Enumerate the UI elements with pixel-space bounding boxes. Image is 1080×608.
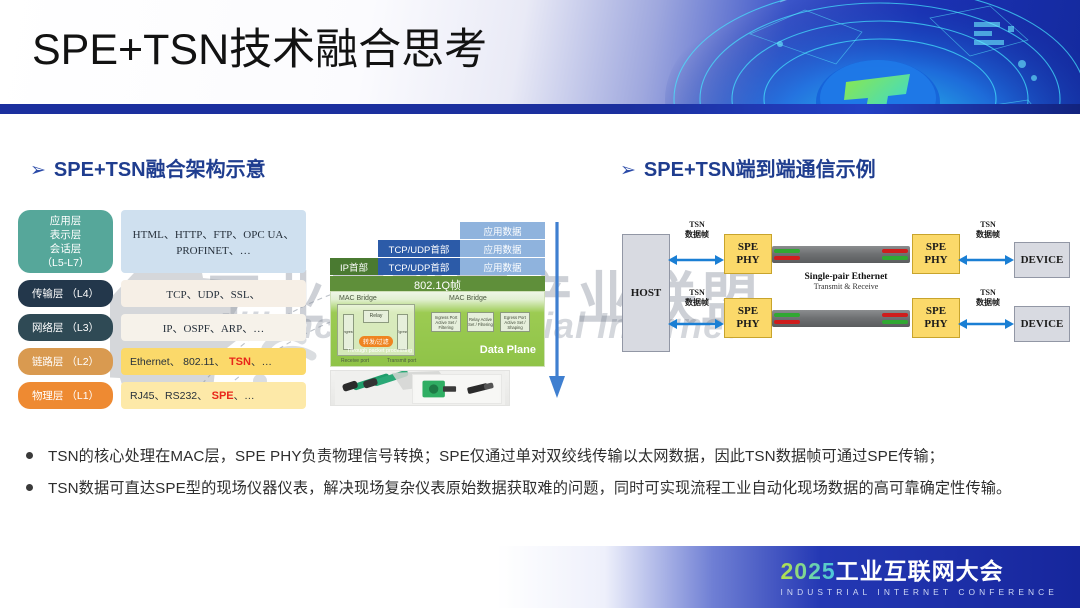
protocol-text: Ethernet、 802.11、 xyxy=(130,354,225,369)
conference-name-cn: 工业互联网大会 xyxy=(836,558,1004,584)
protocol-tail: 、… xyxy=(234,388,255,403)
mini-egress-box: Egress Port Active Set / Shaping xyxy=(500,312,530,332)
encap-row: 应用数据 xyxy=(460,222,545,239)
arrow-host-to-phy-bottom xyxy=(668,318,724,330)
spe-phy-node-bottom-left: SPE PHY xyxy=(724,298,772,338)
tsn-frame-label-bottom-right: TSN 数据帧 xyxy=(962,288,1014,308)
protocol-tail: 、… xyxy=(251,354,272,369)
forward-filter-pill: 转发/过滤 xyxy=(359,336,393,347)
tsn-frame-label-top-left: TSN 数据帧 xyxy=(670,220,724,240)
topology-diagram: HOST TSN 数据帧 TSN 数据帧 SPE PHY SPE PHY xyxy=(600,212,1070,392)
header-tech-graphic xyxy=(630,0,1080,104)
ingress-port-box: Ingress xyxy=(343,314,354,350)
cable-caption-line1: Single-pair Ethernet xyxy=(792,272,900,282)
relay-box: Relay xyxy=(363,310,389,323)
spe-phy-line2: PHY xyxy=(924,318,947,331)
conference-name-en: INDUSTRIAL INTERNET CONFERENCE xyxy=(781,587,1059,597)
bullet-text: TSN的核心处理在MAC层，SPE PHY负责物理信号转换；SPE仅通过单对双绞… xyxy=(48,448,944,465)
protocol-box-network: IP、OSPF、ARP、… xyxy=(121,314,306,341)
section-heading-right: ➢SPE+TSN端到端通信示例 xyxy=(620,153,876,182)
egress-port-box: Egress xyxy=(397,314,408,350)
bullet-dot-icon xyxy=(26,484,33,491)
layer-label-line: （L5-L7） xyxy=(42,256,90,270)
tsn-frame-label-bottom-left: TSN 数据帧 xyxy=(670,288,724,308)
layer-label-line: 会话层 xyxy=(50,242,82,256)
protocol-box-link: Ethernet、 802.11、 TSN 、… xyxy=(121,348,306,375)
protocol-box-physical: RJ45、RS232、 SPE 、… xyxy=(121,382,306,409)
chevron-right-icon: ➢ xyxy=(30,160,46,181)
protocol-highlight-spe: SPE xyxy=(212,390,234,402)
layer-label-line: 传输层 （L4） xyxy=(32,287,99,301)
protocol-box-application: HTML、HTTP、FTP、OPC UA、PROFINET、… xyxy=(121,210,306,273)
spe-phy-node-top-left: SPE PHY xyxy=(724,234,772,274)
bullet-list: TSN的核心处理在MAC层，SPE PHY负责物理信号转换；SPE仅通过单对双绞… xyxy=(22,443,1062,507)
arrow-phy-to-device-top xyxy=(958,254,1014,266)
protocol-box-transport: TCP、UDP、SSL、 xyxy=(121,280,306,307)
bullet-item: TSN数据可直达SPE型的现场仪器仪表，解决现场复杂仪表原始数据获取难的问题，同… xyxy=(22,475,1062,502)
host-node: HOST xyxy=(622,234,670,352)
header-divider xyxy=(0,104,1080,114)
layer-box-network: 网络层 （L3） xyxy=(18,314,113,341)
mac-bridge-right-label: MAC Bridge xyxy=(449,295,487,302)
arrow-phy-to-device-bottom xyxy=(958,318,1014,330)
conference-year: 2025 xyxy=(781,558,836,584)
spe-phy-line1: SPE xyxy=(738,305,758,318)
encap-cell-tcp-udp-header: TCP/UDP首部 xyxy=(378,240,460,257)
spe-phy-node-bottom-right: SPE PHY xyxy=(912,298,960,338)
tsn-label-line1: TSN xyxy=(980,288,996,297)
connector-photo-right xyxy=(412,374,502,404)
through-packet-label: Through packet processing xyxy=(347,348,412,354)
spe-phy-line1: SPE xyxy=(926,305,946,318)
slide-footer: 2025工业互联网大会 INDUSTRIAL INTERNET CONFEREN… xyxy=(0,546,1080,608)
tsn-label-line2: 数据帧 xyxy=(685,230,709,239)
mac-bridge-left-label: MAC Bridge xyxy=(339,295,377,302)
data-plane-diagram: MAC Bridge MAC Bridge Ingress Relay Egre… xyxy=(330,291,545,367)
slide: SPE+TSN技术融合思考 工业互联网产业联盟 Alliance of Indu… xyxy=(0,0,1080,608)
device-node-bottom: DEVICE xyxy=(1014,306,1070,342)
layer-box-application: 应用层 表示层 会话层 （L5-L7） xyxy=(18,210,113,273)
protocol-text: IP、OSPF、ARP、… xyxy=(163,320,264,336)
arrow-host-to-phy-top xyxy=(668,254,724,266)
encap-row: TCP/UDP首部 应用数据 xyxy=(378,240,545,257)
mini-relay-box: Relay Active Set / Filtering xyxy=(467,312,494,332)
bullet-item: TSN的核心处理在MAC层，SPE PHY负责物理信号转换；SPE仅通过单对双绞… xyxy=(22,443,1062,470)
layer-label-line: 物理层 （L1） xyxy=(32,389,99,403)
mini-ingress-box: Ingress Port Active Set / Filtering xyxy=(431,312,461,332)
encap-cell-app-data: 应用数据 xyxy=(460,258,545,275)
data-plane-label: Data Plane xyxy=(480,344,536,356)
flow-down-arrow xyxy=(546,222,568,398)
section-heading-left-label: SPE+TSN融合架构示意 xyxy=(54,159,266,181)
encap-cell-tcp-udp-header: TCP/UDP首部 xyxy=(378,258,460,275)
tsn-label-line1: TSN xyxy=(689,220,705,229)
encap-cell-app-data: 应用数据 xyxy=(460,222,545,239)
spe-cable-top xyxy=(772,246,910,263)
protocol-text: HTML、HTTP、FTP、OPC UA、PROFINET、… xyxy=(121,226,306,258)
spe-cable-bottom xyxy=(772,310,910,327)
transmit-port-label: Transmit port xyxy=(387,358,416,364)
tsn-label-line2: 数据帧 xyxy=(685,298,709,307)
spe-phy-line2: PHY xyxy=(736,318,759,331)
protocol-text: TCP、UDP、SSL、 xyxy=(166,286,260,302)
cable-caption-line2: Transmit & Receive xyxy=(792,282,900,291)
encap-cell-ip-header: IP首部 xyxy=(330,258,378,275)
section-heading-left: ➢SPE+TSN融合架构示意 xyxy=(30,153,266,182)
tsn-label-line2: 数据帧 xyxy=(976,298,1000,307)
bullet-text: TSN数据可直达SPE型的现场仪器仪表，解决现场复杂仪表原始数据获取难的问题，同… xyxy=(48,480,1011,497)
layer-box-physical: 物理层 （L1） xyxy=(18,382,113,409)
protocol-highlight-tsn: TSN xyxy=(229,356,251,368)
page-title: SPE+TSN技术融合思考 xyxy=(32,20,487,80)
slide-header: SPE+TSN技术融合思考 xyxy=(0,0,1080,104)
header-underline xyxy=(0,114,1080,118)
layer-label-line: 表示层 xyxy=(50,228,82,242)
protocol-text: RJ45、RS232、 xyxy=(130,388,208,403)
chevron-right-icon: ➢ xyxy=(620,160,636,181)
encapsulation-stack: 应用数据 TCP/UDP首部 应用数据 IP首部 TCP/UDP首部 应用数据 … xyxy=(330,222,545,292)
tsn-frame-label-top-right: TSN 数据帧 xyxy=(962,220,1014,240)
layer-box-link: 链路层 （L2） xyxy=(18,348,113,375)
layer-box-transport: 传输层 （L4） xyxy=(18,280,113,307)
tsn-label-line2: 数据帧 xyxy=(976,230,1000,239)
encap-cell-app-data: 应用数据 xyxy=(460,240,545,257)
layer-label-line: 网络层 （L3） xyxy=(32,321,99,335)
spe-phy-line2: PHY xyxy=(736,254,759,267)
spe-phy-line2: PHY xyxy=(924,254,947,267)
layer-label-line: 应用层 xyxy=(50,214,82,228)
bullet-dot-icon xyxy=(26,452,33,459)
spe-phy-line1: SPE xyxy=(738,241,758,254)
spe-phy-line1: SPE xyxy=(926,241,946,254)
tsn-label-line1: TSN xyxy=(689,288,705,297)
single-pair-ethernet-caption: Single-pair Ethernet Transmit & Receive xyxy=(792,272,900,291)
conference-logo: 2025工业互联网大会 INDUSTRIAL INTERNET CONFEREN… xyxy=(781,558,1059,597)
tsn-label-line1: TSN xyxy=(980,220,996,229)
spe-phy-node-top-right: SPE PHY xyxy=(912,234,960,274)
receive-port-label: Receive port xyxy=(341,358,369,364)
section-heading-right-label: SPE+TSN端到端通信示例 xyxy=(644,159,876,181)
device-node-top: DEVICE xyxy=(1014,242,1070,278)
encap-row: IP首部 TCP/UDP首部 应用数据 xyxy=(330,258,545,275)
layer-label-line: 链路层 （L2） xyxy=(32,355,99,369)
